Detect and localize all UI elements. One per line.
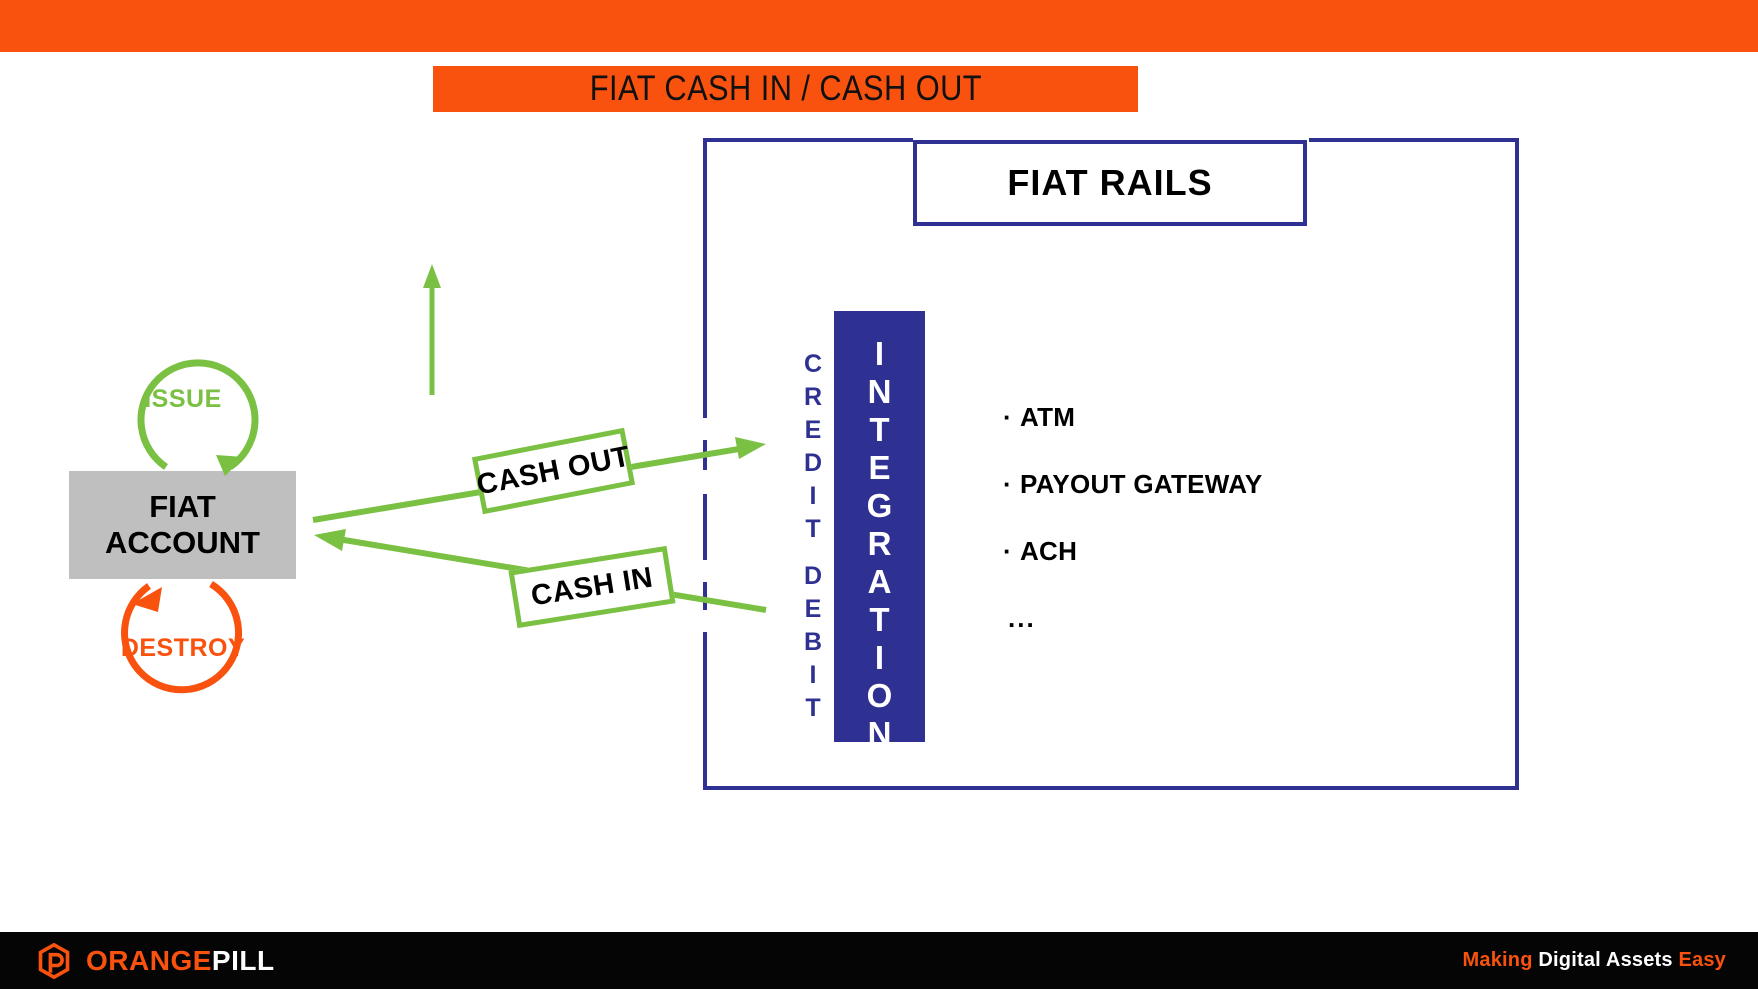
integration-letter: O bbox=[867, 677, 893, 714]
integration-letter: A bbox=[868, 563, 892, 600]
list-item: ·PAYOUT GATEWAY bbox=[1003, 469, 1423, 500]
fiat-account-line2: ACCOUNT bbox=[105, 525, 260, 560]
frame-left-gap bbox=[699, 560, 711, 582]
list-item: ·ACH bbox=[1003, 536, 1423, 567]
orangepill-hexagon-logo-icon bbox=[36, 943, 72, 979]
debit-letter: B bbox=[804, 628, 822, 656]
footer-brand-second: PILL bbox=[212, 945, 275, 976]
credit-letter: R bbox=[804, 383, 822, 411]
list-item-label: ATM bbox=[1020, 402, 1075, 432]
fiat-account-box: FIAT ACCOUNT bbox=[69, 471, 296, 579]
list-item-label: ACH bbox=[1020, 536, 1077, 566]
integration-letter: I bbox=[875, 639, 884, 676]
destroy-label: DESTROY bbox=[103, 634, 263, 663]
page-title: FIAT CASH IN / CASH OUT bbox=[589, 69, 981, 109]
list-item-more: ... bbox=[1008, 603, 1423, 634]
integration-letter: N bbox=[868, 373, 892, 410]
list-item: ·ATM bbox=[1003, 402, 1423, 433]
cash-in-label: CASH IN bbox=[508, 546, 675, 628]
integration-letter: G bbox=[867, 487, 893, 524]
bullet-dot: · bbox=[1003, 402, 1012, 433]
list-item-label: PAYOUT GATEWAY bbox=[1020, 469, 1263, 499]
integration-bar: I N T E G R A T I O N bbox=[834, 311, 925, 742]
footer-bar: ORANGEPILL Making Digital Assets Easy bbox=[0, 932, 1758, 989]
upward-flow-arrow-icon bbox=[423, 264, 441, 395]
fiat-account-label: FIAT ACCOUNT bbox=[105, 489, 260, 561]
integration-letter: T bbox=[869, 601, 889, 638]
footer-tagline-third: Easy bbox=[1678, 949, 1726, 971]
debit-letter: I bbox=[810, 661, 817, 689]
fiat-rails-label: FIAT RAILS bbox=[1007, 162, 1212, 204]
integration-letter: I bbox=[875, 335, 884, 372]
integration-letter: E bbox=[868, 449, 890, 486]
credit-letter: I bbox=[810, 482, 817, 510]
frame-left-gap bbox=[699, 418, 711, 440]
footer-brand: ORANGEPILL bbox=[86, 945, 275, 977]
footer-brand-first: ORANGE bbox=[86, 945, 212, 976]
fiat-rails-label-box: FIAT RAILS bbox=[913, 140, 1307, 226]
footer-tagline: Making Digital Assets Easy bbox=[1463, 949, 1726, 972]
integration-letter: R bbox=[868, 525, 892, 562]
bullet-dot: · bbox=[1003, 536, 1012, 567]
footer-tagline-first: Making bbox=[1463, 949, 1533, 971]
footer-tagline-second: Digital Assets bbox=[1533, 949, 1679, 971]
frame-left-gap bbox=[699, 610, 711, 632]
integration-letter: T bbox=[869, 411, 889, 448]
fiat-rails-list: ·ATM ·PAYOUT GATEWAY ·ACH ... bbox=[1003, 402, 1423, 670]
cash-out-label: CASH OUT bbox=[472, 428, 635, 515]
debit-letter: T bbox=[805, 694, 820, 722]
frame-left-gap bbox=[699, 470, 711, 494]
debit-letter: D bbox=[804, 562, 822, 590]
bullet-dot: · bbox=[1003, 469, 1012, 500]
debit-letter: E bbox=[805, 595, 822, 623]
credit-debit-vertical-label: C R E D I T D E B I T bbox=[796, 348, 830, 725]
credit-letter: E bbox=[805, 416, 822, 444]
issue-label: ISSUE bbox=[103, 385, 263, 414]
credit-letter: C bbox=[804, 350, 822, 378]
top-accent-bar bbox=[0, 0, 1758, 52]
fiat-account-line1: FIAT bbox=[149, 489, 216, 524]
credit-letter: T bbox=[805, 515, 820, 543]
letter-gap bbox=[796, 546, 830, 560]
slide-title-banner: FIAT CASH IN / CASH OUT bbox=[433, 66, 1138, 112]
credit-letter: D bbox=[804, 449, 822, 477]
integration-letter: N bbox=[868, 715, 892, 752]
